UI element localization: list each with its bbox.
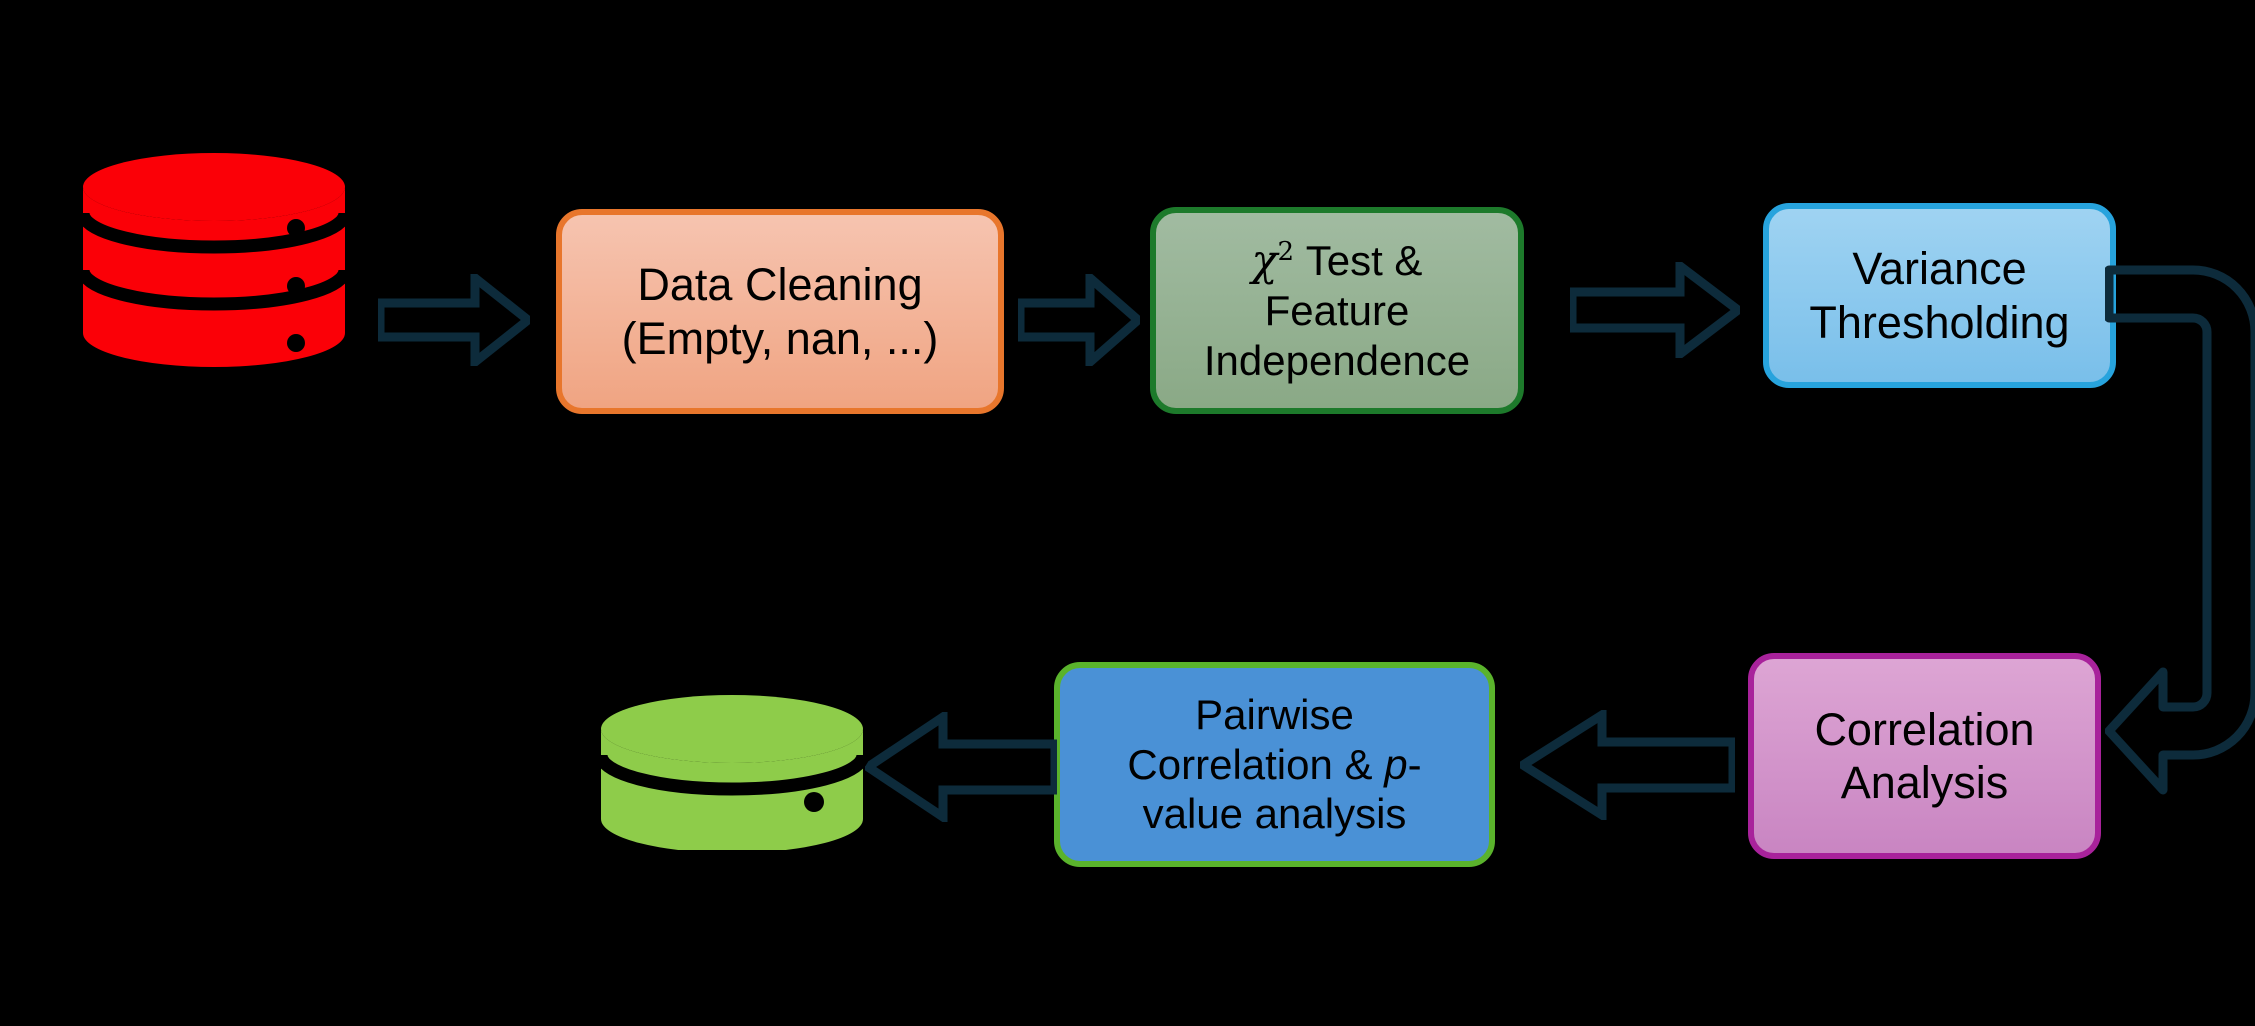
- node-correlation-line1: Correlation: [1814, 704, 2034, 755]
- node-variance-thresholding-label: Variance Thresholding: [1769, 242, 2110, 348]
- node-correlation-analysis-label: Correlation Analysis: [1754, 703, 2095, 809]
- arrow-source-to-cleaning: [378, 274, 530, 366]
- node-pairwise-correlation-label: Pairwise Correlation & p- value analysis: [1060, 690, 1489, 839]
- node-pairwise-line3: value analysis: [1143, 790, 1407, 837]
- arrow-variance-to-correlation: [2105, 265, 2255, 795]
- node-pairwise-correlation[interactable]: Pairwise Correlation & p- value analysis: [1054, 662, 1495, 867]
- arrow-correlation-to-pairwise: [1520, 710, 1735, 820]
- p-value-symbol: p: [1384, 741, 1407, 788]
- node-chi-square-test-label: χ2 Test & Feature Independence: [1156, 236, 1518, 386]
- chi-exponent: 2: [1278, 237, 1295, 267]
- node-data-cleaning-line1: Data Cleaning: [637, 259, 922, 310]
- node-data-cleaning[interactable]: Data Cleaning (Empty, nan, ...): [556, 209, 1004, 414]
- node-pairwise-line2-a: Correlation &: [1127, 741, 1384, 788]
- node-variance-line2: Thresholding: [1809, 297, 2069, 348]
- arrow-cleaning-to-chi: [1018, 274, 1140, 366]
- node-correlation-line2: Analysis: [1841, 757, 2009, 808]
- arrow-chi-to-variance: [1570, 262, 1740, 358]
- node-data-cleaning-line2: (Empty, nan, ...): [622, 313, 939, 364]
- node-pairwise-line2-b: -: [1408, 741, 1422, 788]
- arrow-pairwise-to-result: [865, 712, 1057, 822]
- node-variance-thresholding[interactable]: Variance Thresholding: [1763, 203, 2116, 388]
- node-chi-line2: Feature: [1265, 287, 1410, 334]
- chi-symbol: χ: [1252, 236, 1278, 286]
- node-chi-line1-rest: Test &: [1294, 237, 1422, 284]
- node-data-cleaning-label: Data Cleaning (Empty, nan, ...): [562, 258, 998, 364]
- source-database-icon: [78, 150, 350, 370]
- node-chi-line3: Independence: [1204, 337, 1470, 384]
- node-variance-line1: Variance: [1852, 243, 2026, 294]
- node-correlation-analysis[interactable]: Correlation Analysis: [1748, 653, 2101, 859]
- diagram-canvas: Data Cleaning (Empty, nan, ...) χ2 Test …: [0, 0, 2255, 1026]
- result-database-icon: [596, 692, 868, 850]
- node-pairwise-line1: Pairwise: [1195, 691, 1354, 738]
- node-chi-square-test[interactable]: χ2 Test & Feature Independence: [1150, 207, 1524, 414]
